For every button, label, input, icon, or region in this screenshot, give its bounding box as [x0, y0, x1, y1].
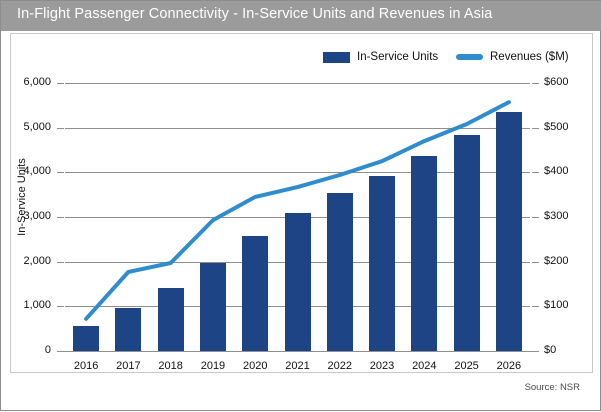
x-axis-tick-label-2019: 2019 [191, 360, 235, 372]
y-axis-tick-label: 4,000 [5, 165, 51, 177]
y2-tick-mark [532, 262, 539, 263]
x-tick-mark [485, 351, 492, 352]
x-axis-tick-label-2023: 2023 [360, 360, 404, 372]
x-tick-mark [147, 351, 154, 352]
gridline [65, 128, 530, 129]
x-tick-mark [104, 351, 111, 352]
y-axis-tick-label: 0 [5, 344, 51, 356]
gridline [65, 83, 530, 84]
bar-2017[interactable] [115, 308, 141, 351]
y-axis-title: In-Service Units [16, 142, 28, 252]
y2-axis-tick-label: $400 [544, 165, 590, 177]
y-axis-tick-label: 1,000 [5, 299, 51, 311]
x-axis-tick-label-2022: 2022 [318, 360, 362, 372]
y2-axis-tick-label: $100 [544, 299, 590, 311]
y2-axis-tick-label: $300 [544, 210, 590, 222]
x-tick-mark [400, 351, 407, 352]
x-tick-mark [358, 351, 365, 352]
x-tick-mark [62, 351, 69, 352]
y2-axis-tick-label: $500 [544, 121, 590, 133]
y2-axis-tick-label: $0 [544, 344, 590, 356]
bar-2022[interactable] [327, 193, 353, 351]
x-axis-tick-label-2021: 2021 [276, 360, 320, 372]
x-axis-tick-label-2024: 2024 [402, 360, 446, 372]
bar-2025[interactable] [454, 135, 480, 351]
y2-tick-mark [532, 83, 539, 84]
bar-2018[interactable] [158, 288, 184, 351]
y-axis-tick-label: 5,000 [5, 121, 51, 133]
bar-2023[interactable] [369, 176, 395, 351]
x-tick-mark [442, 351, 449, 352]
x-axis-line [65, 351, 530, 352]
bar-2016[interactable] [73, 326, 99, 351]
x-axis-tick-label-2020: 2020 [233, 360, 277, 372]
chart-frame: In-Flight Passenger Connectivity - In-Se… [0, 0, 601, 411]
y2-tick-mark [532, 217, 539, 218]
y-tick-mark [57, 128, 64, 129]
y2-axis-tick-label: $600 [544, 76, 590, 88]
y-axis-tick-label: 6,000 [5, 76, 51, 88]
chart-plot-area: In-Service Units 01,0002,0003,0004,0005,… [1, 1, 601, 412]
x-tick-mark [231, 351, 238, 352]
x-tick-mark [316, 351, 323, 352]
y-axis-tick-label: 3,000 [5, 210, 51, 222]
y2-tick-mark [532, 172, 539, 173]
y-tick-mark [57, 217, 64, 218]
x-tick-mark [273, 351, 280, 352]
source-note: Source: NSR [525, 382, 580, 393]
x-tick-mark [527, 351, 534, 352]
bar-2019[interactable] [200, 263, 226, 351]
bar-2026[interactable] [496, 112, 522, 351]
bar-2021[interactable] [285, 213, 311, 351]
y-tick-mark [57, 306, 64, 307]
x-axis-tick-label-2017: 2017 [106, 360, 150, 372]
x-axis-tick-label-2016: 2016 [64, 360, 108, 372]
y-tick-mark [57, 262, 64, 263]
y-tick-mark [57, 172, 64, 173]
y-tick-mark [57, 83, 64, 84]
y-axis-tick-label: 2,000 [5, 255, 51, 267]
x-tick-mark [189, 351, 196, 352]
bar-2024[interactable] [411, 156, 437, 351]
y2-axis-tick-label: $200 [544, 255, 590, 267]
y2-tick-mark [532, 306, 539, 307]
x-axis-tick-label-2018: 2018 [149, 360, 193, 372]
x-axis-tick-label-2025: 2025 [445, 360, 489, 372]
x-axis-tick-label-2026: 2026 [487, 360, 531, 372]
y2-tick-mark [532, 128, 539, 129]
bar-2020[interactable] [242, 236, 268, 351]
